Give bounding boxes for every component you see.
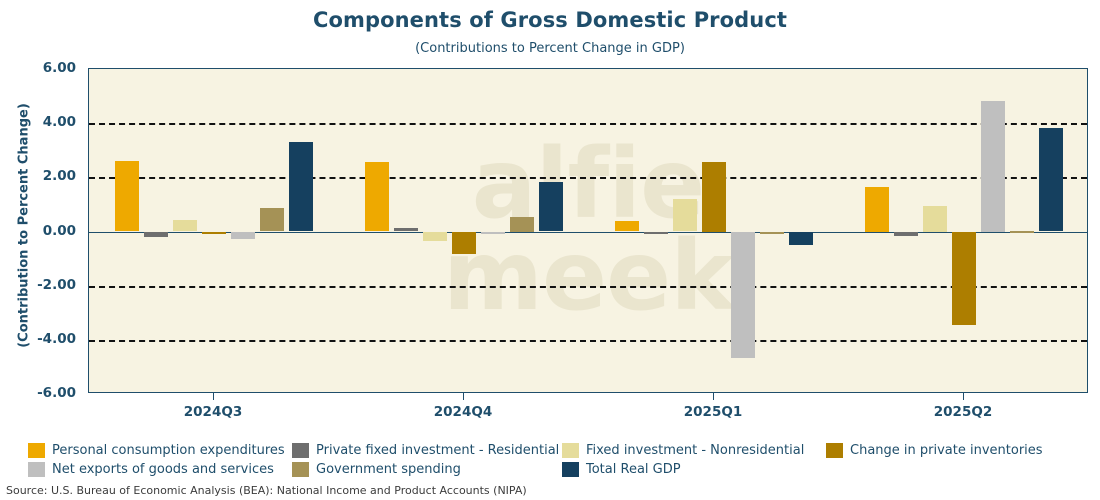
x-tick-mark (213, 393, 214, 400)
plot-area: alfie meek (88, 68, 1088, 393)
legend-swatch-icon (562, 443, 579, 458)
y-tick-label: 0.00 (4, 223, 76, 239)
legend-item[interactable]: Private fixed investment - Residential (292, 443, 559, 458)
legend-item[interactable]: Change in private inventories (826, 443, 1043, 458)
legend-label: Fixed investment - Nonresidential (586, 443, 804, 458)
bar (115, 161, 139, 232)
gdp-components-chart: Components of Gross Domestic Product (Co… (0, 0, 1100, 500)
bar (481, 232, 505, 234)
bar (923, 206, 947, 231)
y-tick-label: -2.00 (4, 277, 76, 293)
y-tick-label: -6.00 (4, 385, 76, 401)
legend-label: Government spending (316, 462, 461, 477)
gridline (89, 286, 1087, 288)
x-tick-mark (463, 393, 464, 400)
bar (1039, 128, 1063, 232)
watermark-line-1: alfie (472, 139, 704, 230)
y-tick-label: -4.00 (4, 331, 76, 347)
bar (173, 220, 197, 232)
gridline (89, 177, 1087, 179)
x-tick-label: 2025Q1 (684, 404, 742, 420)
y-tick-label: 2.00 (4, 168, 76, 184)
legend-item[interactable]: Government spending (292, 462, 461, 477)
legend-label: Change in private inventories (850, 443, 1043, 458)
watermark-line-2: meek (443, 231, 733, 322)
y-tick-label: 6.00 (4, 60, 76, 76)
bar (289, 142, 313, 232)
bar (981, 101, 1005, 232)
legend-swatch-icon (28, 462, 45, 477)
legend-label: Private fixed investment - Residential (316, 443, 559, 458)
bar (673, 199, 697, 232)
bar (760, 232, 784, 235)
source-note: Source: U.S. Bureau of Economic Analysis… (6, 484, 527, 497)
page-title: Components of Gross Domestic Product (0, 8, 1100, 32)
x-tick-label: 2025Q2 (934, 404, 992, 420)
gridline (89, 123, 1087, 125)
x-tick-label: 2024Q3 (184, 404, 242, 420)
bar (423, 232, 447, 241)
legend-swatch-icon (292, 462, 309, 477)
bar (702, 162, 726, 231)
bar (394, 228, 418, 232)
bar (731, 232, 755, 359)
x-tick-mark (713, 393, 714, 400)
bar (539, 182, 563, 232)
legend-swatch-icon (292, 443, 309, 458)
legend-swatch-icon (28, 443, 45, 458)
legend-item[interactable]: Fixed investment - Nonresidential (562, 443, 804, 458)
legend-swatch-icon (826, 443, 843, 458)
x-tick-label: 2024Q4 (434, 404, 492, 420)
x-tick-mark (963, 393, 964, 400)
bar (365, 162, 389, 232)
bar (644, 232, 668, 234)
bar (615, 221, 639, 231)
legend-item[interactable]: Total Real GDP (562, 462, 681, 477)
bar (510, 217, 534, 232)
bar (202, 232, 226, 234)
legend-swatch-icon (562, 462, 579, 477)
bar (144, 232, 168, 237)
legend-label: Personal consumption expenditures (52, 443, 285, 458)
y-tick-label: 4.00 (4, 114, 76, 130)
bar (452, 232, 476, 255)
bar (865, 187, 889, 232)
gridline (89, 340, 1087, 342)
bar (952, 232, 976, 325)
bar (1010, 231, 1034, 233)
bar (894, 232, 918, 237)
legend-label: Total Real GDP (586, 462, 681, 477)
legend-item[interactable]: Personal consumption expenditures (28, 443, 285, 458)
bar (789, 232, 813, 246)
legend-label: Net exports of goods and services (52, 462, 274, 477)
chart-legend: Personal consumption expendituresPrivate… (0, 443, 1100, 481)
bar (260, 208, 284, 232)
bar (231, 232, 255, 239)
chart-subtitle: (Contributions to Percent Change in GDP) (0, 41, 1100, 56)
legend-item[interactable]: Net exports of goods and services (28, 462, 274, 477)
